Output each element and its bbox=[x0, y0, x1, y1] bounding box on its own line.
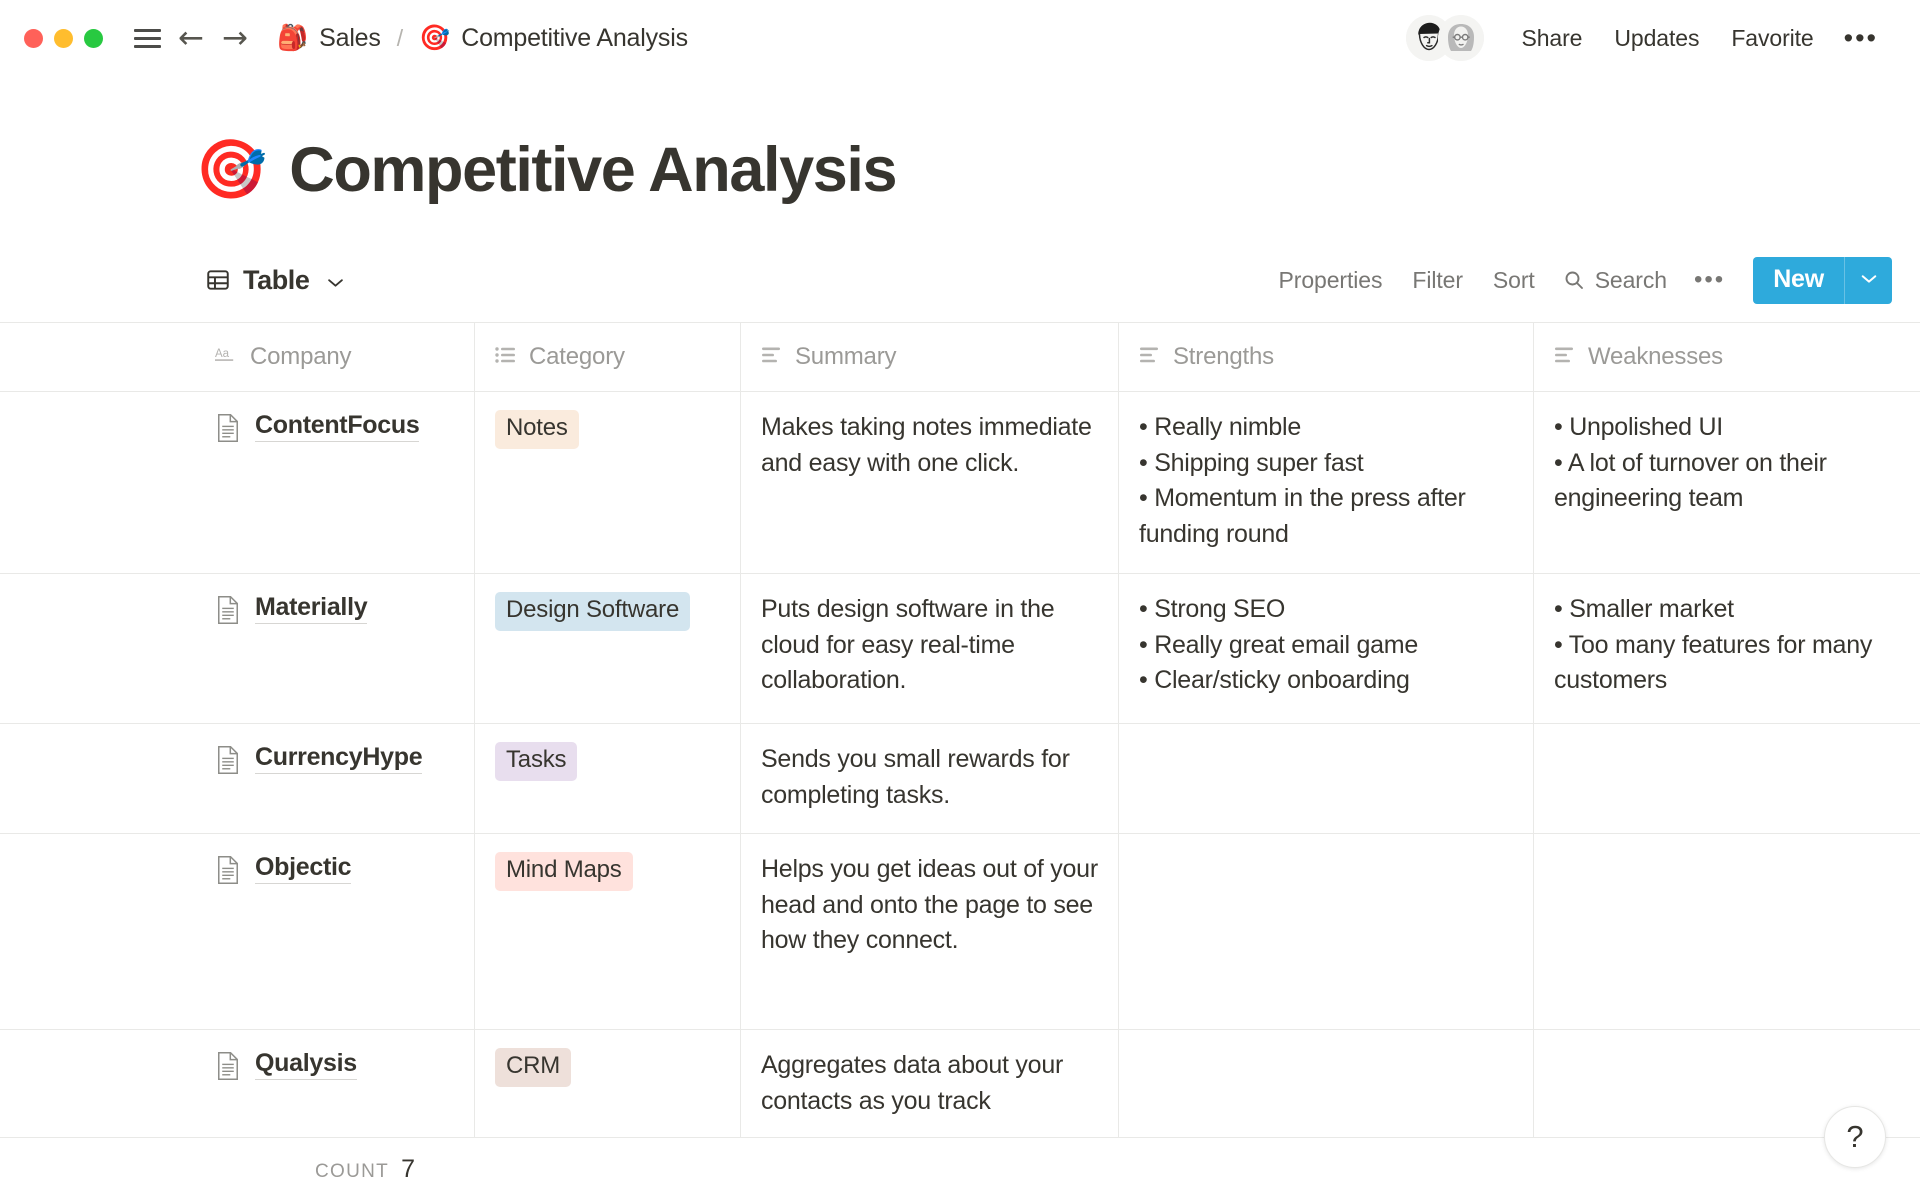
cell-weaknesses[interactable]: • Smaller market• Too many features for … bbox=[1534, 574, 1920, 723]
target-emoji-icon: 🎯 bbox=[419, 26, 450, 51]
back-button[interactable]: ← bbox=[169, 16, 213, 60]
question-mark-icon: ? bbox=[1846, 1119, 1863, 1155]
category-tag[interactable]: CRM bbox=[495, 1048, 571, 1087]
table-row[interactable]: CurrencyHypeTasksSends you small rewards… bbox=[0, 724, 1920, 834]
arrow-left-icon: ← bbox=[178, 23, 204, 54]
table-row[interactable]: ObjecticMind MapsHelps you get ideas out… bbox=[0, 834, 1920, 1030]
page-document-icon bbox=[215, 855, 241, 890]
traffic-light-controls bbox=[24, 29, 103, 48]
row-gutter bbox=[0, 392, 195, 573]
page-document-icon bbox=[215, 413, 241, 448]
avatar-person-2[interactable] bbox=[1438, 15, 1484, 61]
page-title-row: 🎯 Competitive Analysis bbox=[0, 76, 1920, 204]
backpack-emoji-icon: 🎒 bbox=[277, 26, 308, 51]
row-gutter bbox=[0, 834, 195, 1029]
cell-strengths[interactable] bbox=[1119, 834, 1534, 1029]
breadcrumb-label-competitive-analysis: Competitive Analysis bbox=[461, 24, 688, 53]
minimize-window-button[interactable] bbox=[54, 29, 73, 48]
column-label: Summary bbox=[795, 343, 896, 371]
text-lines-property-icon bbox=[1139, 345, 1161, 370]
company-name-link[interactable]: CurrencyHype bbox=[255, 742, 422, 774]
properties-button[interactable]: Properties bbox=[1264, 260, 1398, 301]
summary-text: Makes taking notes immediate and easy wi… bbox=[761, 410, 1098, 481]
page-title[interactable]: Competitive Analysis bbox=[289, 136, 896, 204]
table-row[interactable]: QualysisCRMAggregates data about your co… bbox=[0, 1030, 1920, 1138]
cell-summary[interactable]: Puts design software in the cloud for ea… bbox=[741, 574, 1119, 723]
close-window-button[interactable] bbox=[24, 29, 43, 48]
column-header-company[interactable]: Aa Company bbox=[195, 323, 475, 391]
breadcrumb-item-sales[interactable]: 🎒 Sales bbox=[267, 19, 391, 58]
cell-summary[interactable]: Helps you get ideas out of your head and… bbox=[741, 834, 1119, 1029]
cell-company[interactable]: Objectic bbox=[195, 834, 475, 1029]
search-label: Search bbox=[1595, 267, 1667, 294]
more-options-icon[interactable]: ••• bbox=[1830, 21, 1892, 56]
cell-weaknesses[interactable] bbox=[1534, 834, 1920, 1029]
svg-text:Aa: Aa bbox=[215, 347, 230, 359]
column-header-strengths[interactable]: Strengths bbox=[1119, 323, 1534, 391]
table-icon bbox=[205, 267, 231, 293]
summary-text: Sends you small rewards for completing t… bbox=[761, 742, 1098, 813]
row-gutter bbox=[0, 323, 195, 391]
database-table: Aa Company Category bbox=[0, 322, 1920, 1138]
favorite-button[interactable]: Favorite bbox=[1715, 17, 1829, 60]
view-label: Table bbox=[243, 265, 310, 296]
text-lines-property-icon bbox=[761, 345, 783, 370]
breadcrumb-item-competitive-analysis[interactable]: 🎯 Competitive Analysis bbox=[409, 19, 698, 58]
page-content: 🎯 Competitive Analysis Table Properties … bbox=[0, 76, 1920, 1200]
help-button[interactable]: ? bbox=[1824, 1106, 1886, 1168]
new-button-group: New bbox=[1753, 257, 1892, 304]
cell-category[interactable]: Tasks bbox=[475, 724, 741, 833]
sidebar-toggle-button[interactable] bbox=[125, 16, 169, 60]
text-lines-property-icon bbox=[1554, 345, 1576, 370]
forward-button[interactable]: → bbox=[213, 16, 257, 60]
collaborator-avatars[interactable] bbox=[1406, 15, 1484, 61]
target-emoji-icon[interactable]: 🎯 bbox=[195, 141, 267, 199]
category-tag[interactable]: Tasks bbox=[495, 742, 577, 781]
strengths-text: • Strong SEO• Really great email game• C… bbox=[1139, 592, 1513, 699]
company-name-link[interactable]: ContentFocus bbox=[255, 410, 419, 442]
column-header-weaknesses[interactable]: Weaknesses bbox=[1534, 323, 1920, 391]
cell-category[interactable]: Mind Maps bbox=[475, 834, 741, 1029]
cell-company[interactable]: Qualysis bbox=[195, 1030, 475, 1137]
new-dropdown-button[interactable] bbox=[1844, 257, 1892, 304]
cell-company[interactable]: CurrencyHype bbox=[195, 724, 475, 833]
sort-button[interactable]: Sort bbox=[1478, 260, 1550, 301]
new-button[interactable]: New bbox=[1753, 257, 1844, 304]
chevron-down-icon bbox=[1860, 271, 1878, 289]
strengths-text: • Really nimble• Shipping super fast• Mo… bbox=[1139, 410, 1513, 552]
row-gutter bbox=[0, 1030, 195, 1137]
cell-category[interactable]: Notes bbox=[475, 392, 741, 573]
share-button[interactable]: Share bbox=[1506, 17, 1599, 60]
category-tag[interactable]: Design Software bbox=[495, 592, 690, 631]
cell-company[interactable]: ContentFocus bbox=[195, 392, 475, 573]
cell-strengths[interactable] bbox=[1119, 724, 1534, 833]
category-tag[interactable]: Notes bbox=[495, 410, 579, 449]
hamburger-icon bbox=[134, 29, 161, 48]
search-icon bbox=[1563, 269, 1585, 291]
column-header-summary[interactable]: Summary bbox=[741, 323, 1119, 391]
tab-table-view[interactable]: Table bbox=[195, 261, 355, 300]
cell-weaknesses[interactable] bbox=[1534, 724, 1920, 833]
view-more-options-icon[interactable]: ••• bbox=[1680, 264, 1739, 296]
row-gutter bbox=[0, 574, 195, 723]
maximize-window-button[interactable] bbox=[84, 29, 103, 48]
count-label: COUNT bbox=[315, 1161, 389, 1183]
search-button[interactable]: Search bbox=[1550, 260, 1680, 301]
table-body: ContentFocusNotesMakes taking notes imme… bbox=[0, 392, 1920, 1138]
category-tag[interactable]: Mind Maps bbox=[495, 852, 633, 891]
column-header-category[interactable]: Category bbox=[475, 323, 741, 391]
column-label: Strengths bbox=[1173, 343, 1274, 371]
company-name-link[interactable]: Objectic bbox=[255, 852, 351, 884]
company-name-link[interactable]: Qualysis bbox=[255, 1048, 357, 1080]
table-row[interactable]: ContentFocusNotesMakes taking notes imme… bbox=[0, 392, 1920, 574]
breadcrumb: 🎒 Sales / 🎯 Competitive Analysis bbox=[267, 19, 698, 58]
table-row[interactable]: MateriallyDesign SoftwarePuts design sof… bbox=[0, 574, 1920, 724]
row-gutter bbox=[0, 724, 195, 833]
cell-weaknesses[interactable]: • Unpolished UI• A lot of turnover on th… bbox=[1534, 392, 1920, 573]
count-value: 7 bbox=[401, 1155, 415, 1184]
column-label: Company bbox=[250, 343, 351, 371]
cell-summary[interactable]: Makes taking notes immediate and easy wi… bbox=[741, 392, 1119, 573]
chevron-down-icon bbox=[326, 275, 345, 286]
cell-company[interactable]: Materially bbox=[195, 574, 475, 723]
cell-category[interactable]: Design Software bbox=[475, 574, 741, 723]
cell-strengths[interactable] bbox=[1119, 1030, 1534, 1137]
cell-category[interactable]: CRM bbox=[475, 1030, 741, 1137]
titlebar-actions: Share Updates Favorite ••• bbox=[1406, 15, 1893, 61]
column-label: Category bbox=[529, 343, 625, 371]
select-property-icon bbox=[495, 345, 517, 370]
page-document-icon bbox=[215, 1051, 241, 1086]
text-property-icon: Aa bbox=[215, 345, 238, 370]
cell-summary[interactable]: Sends you small rewards for completing t… bbox=[741, 724, 1119, 833]
table-header-row: Aa Company Category bbox=[0, 323, 1920, 392]
cell-strengths[interactable]: • Strong SEO• Really great email game• C… bbox=[1119, 574, 1534, 723]
weaknesses-text: • Smaller market• Too many features for … bbox=[1554, 592, 1900, 699]
cell-strengths[interactable]: • Really nimble• Shipping super fast• Mo… bbox=[1119, 392, 1534, 573]
arrow-right-icon: → bbox=[222, 23, 248, 54]
table-footer: COUNT 7 bbox=[0, 1138, 1920, 1200]
weaknesses-text: • Unpolished UI• A lot of turnover on th… bbox=[1554, 410, 1900, 517]
breadcrumb-label-sales: Sales bbox=[319, 24, 381, 53]
page-document-icon bbox=[215, 595, 241, 630]
page-document-icon bbox=[215, 745, 241, 780]
filter-button[interactable]: Filter bbox=[1397, 260, 1478, 301]
cell-summary[interactable]: Aggregates data about your contacts as y… bbox=[741, 1030, 1119, 1137]
toolbar-actions: Properties Filter Sort Search ••• New bbox=[1264, 257, 1892, 304]
summary-text: Aggregates data about your contacts as y… bbox=[761, 1048, 1098, 1119]
column-label: Weaknesses bbox=[1588, 343, 1723, 371]
summary-text: Puts design software in the cloud for ea… bbox=[761, 592, 1098, 699]
summary-text: Helps you get ideas out of your head and… bbox=[761, 852, 1098, 959]
company-name-link[interactable]: Materially bbox=[255, 592, 367, 624]
breadcrumb-separator: / bbox=[391, 25, 409, 52]
window-titlebar: ← → 🎒 Sales / 🎯 Competitive Analysis bbox=[0, 0, 1920, 76]
count-aggregate[interactable]: COUNT 7 bbox=[195, 1155, 415, 1184]
updates-button[interactable]: Updates bbox=[1598, 17, 1715, 60]
database-view-toolbar: Table Properties Filter Sort Search ••• … bbox=[0, 252, 1920, 308]
